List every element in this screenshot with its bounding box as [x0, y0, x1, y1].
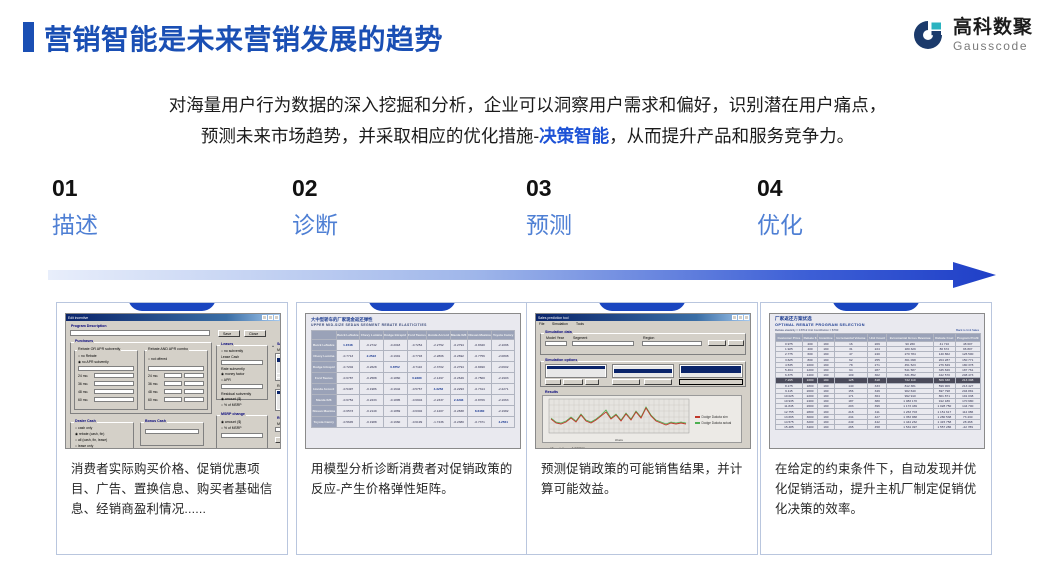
matrix-title-en: UPPER MID-SIZE SEDAN SEGMENT REBATE ELAS…: [311, 323, 427, 327]
term-36-label: 36 mo.: [78, 382, 88, 386]
step-labels: 01 描述 02 诊断 03 预测 04 优化: [0, 176, 1051, 254]
save-incentives-label: Save incentives: [276, 342, 281, 346]
sim-new-button[interactable]: [708, 340, 726, 346]
simulation-data-label: Simulation data: [544, 330, 573, 334]
radio-lease-only[interactable]: ○ lease only: [75, 444, 93, 448]
legend-actual: Dodge Dakota actual: [695, 421, 731, 425]
term-60-label: 60 mo.: [78, 398, 88, 402]
segment-select[interactable]: [572, 341, 634, 346]
radio-msrp-amount[interactable]: ◉ amount ($): [221, 420, 241, 424]
radio-msrp-pct[interactable]: ○ % of MSRP: [221, 426, 242, 430]
card-predict[interactable]: Sales prediction tool File Simulation To…: [526, 302, 758, 555]
step-03-number: 03: [526, 176, 746, 201]
elasticity-matrix-table: Buick LeSabreChevy LuminaDodge IntrepidF…: [311, 330, 515, 428]
radio-money-factor[interactable]: ◉ money factor: [221, 372, 245, 376]
residual-subvently-label: Residual subvently: [220, 392, 252, 396]
logo-name-en: Gausscode: [953, 40, 1033, 52]
title-accent-bar: [23, 22, 34, 52]
models-listbox[interactable]: [612, 364, 674, 378]
combo-term-36-rate[interactable]: [184, 381, 204, 386]
region-select[interactable]: [642, 341, 702, 346]
card-describe[interactable]: Edit incentive Program Description Save …: [56, 302, 288, 555]
optimal-rebate-table: Customer PriceRebate $IncentiveIncrement…: [775, 333, 981, 430]
radio-amount[interactable]: ◉ amount ($): [221, 397, 241, 401]
step-03-label: 预测: [526, 213, 746, 238]
card-diagnose-caption: 用模型分析诊断消费者对促销政策的反应-产生价格弹性矩阵。: [311, 459, 515, 499]
combo-term-48-input[interactable]: [164, 389, 182, 394]
rebate-or-apr-label: Rebate OR APR subvently: [77, 347, 121, 351]
radio-no-subvently[interactable]: ○ no subvently: [221, 349, 243, 353]
simulation-options-label: Simulation options: [544, 358, 578, 362]
combo-term-60-rate[interactable]: [184, 397, 204, 402]
logo-name-cn: 高科数聚: [953, 18, 1033, 37]
select-all-button[interactable]: [612, 379, 640, 385]
svg-text:Weeks: Weeks: [615, 438, 624, 442]
bonus-cash-input[interactable]: [145, 429, 199, 434]
slide-header: 营销智能是未来营销发展的趋势 高科数聚 Gausscode: [0, 0, 1051, 78]
screenshot-sales-prediction-tool: Sales prediction tool File Simulation To…: [535, 313, 751, 449]
screenshot-optimal-rebate-program: 厂家返还方案优选 OPTIMAL REBATE PROGRAM SELECTIO…: [769, 313, 985, 449]
combo-term-36-label: 36 mo.: [148, 382, 158, 386]
lead-paragraph: 对海量用户行为数据的深入挖掘和分析，企业可以洞察用户需求和偏好，识别潜在用户痛点…: [50, 90, 1005, 151]
combo-term-36-input[interactable]: [164, 381, 182, 386]
purchases-group-label: Purchases: [74, 339, 94, 343]
region-list-label: Region(s): [276, 384, 281, 388]
step-01-number: 01: [52, 176, 272, 201]
remove-button[interactable]: [563, 379, 583, 385]
optimal-subtitle: Rebate elasticity = 0.8712 Unit Contribu…: [775, 328, 838, 332]
back-to-unit-sales-link[interactable]: Back to Unit Sales: [956, 328, 979, 332]
model-list-label: Model(s): [276, 348, 281, 352]
model-year-select[interactable]: [545, 341, 567, 346]
step-02: 02 诊断: [292, 176, 512, 239]
term-48-input[interactable]: [94, 389, 134, 394]
bonus-cash-group: [140, 422, 204, 446]
segment-label: Segment: [572, 336, 588, 340]
radio-all-cash-fin-lease[interactable]: ○ all (cash, fin, lease): [75, 438, 107, 442]
card-diagnose[interactable]: 大中型轿车的厂家现金返还弹性 UPPER MID-SIZE SEDAN SEGM…: [296, 302, 528, 555]
gausscode-logo-icon: [911, 18, 945, 52]
sim-run-button[interactable]: [728, 340, 744, 346]
region-label: Region: [642, 336, 655, 340]
lead-highlight: 决策智能: [539, 126, 609, 146]
correlation-text: (Correlation = 0.98390): [550, 447, 585, 449]
leases-label: Leases: [220, 342, 234, 346]
combo-term-48-rate[interactable]: [184, 389, 204, 394]
radio-rebate-cash-fin[interactable]: ◉ rebate (cash, fin): [75, 432, 104, 436]
simulation-chart: Weeks Dodge Dakota sim Dodge Dakota actu…: [542, 395, 742, 443]
card-notch: [598, 302, 686, 311]
results-listbox[interactable]: [679, 364, 743, 378]
progression-arrow: [48, 262, 996, 288]
combo-term-60-label: 60 mo.: [148, 398, 158, 402]
menu-simulation[interactable]: Simulation: [552, 322, 568, 326]
term-36-input[interactable]: [94, 381, 134, 386]
screenshot-rebate-elasticities: 大中型轿车的厂家现金返还弹性 UPPER MID-SIZE SEDAN SEGM…: [305, 313, 521, 449]
combo-term-24-input[interactable]: [164, 373, 182, 378]
rate-subvently-label: Rate subvently: [220, 367, 246, 371]
combo-term-60-input[interactable]: [164, 397, 182, 402]
retrieve-incentives-label: Retrieve incentives: [276, 416, 281, 420]
radio-no-apr[interactable]: ◉ no APR subvently: [78, 360, 109, 364]
combo-term-48-label: 48 mo.: [148, 390, 158, 394]
card-predict-caption: 预测促销政策的可能销售结果，并计算可能效益。: [541, 459, 745, 499]
model-year-label: Model Year: [545, 336, 565, 340]
slide: 营销智能是未来营销发展的趋势 高科数聚 Gausscode 对海量用户行为数据的…: [0, 0, 1051, 586]
legend-sim: Dodge Dakota sim: [695, 415, 728, 419]
radio-pct-msrp[interactable]: ○ % of MSRP: [221, 403, 242, 407]
step-02-label: 诊断: [292, 213, 512, 238]
term-48-label: 48 mo.: [78, 390, 88, 394]
brand-logo: 高科数聚 Gausscode: [911, 18, 1033, 52]
lead-line-2-suffix: ，从而提升产品和服务竞争力。: [609, 126, 854, 146]
screenshot-edit-incentive-dialog: Edit incentive Program Description Save …: [65, 313, 281, 449]
step-01: 01 描述: [52, 176, 272, 239]
card-notch: [832, 302, 920, 311]
retrieve-model-label: Model: [276, 422, 281, 426]
optimal-title-en: OPTIMAL REBATE PROGRAM SELECTION: [775, 323, 865, 327]
lease-cash-input[interactable]: [221, 360, 263, 365]
step-02-number: 02: [292, 176, 512, 201]
radio-no-rebate[interactable]: ○ no Rebate: [78, 354, 97, 358]
spacer: [272, 345, 274, 347]
dealer-cash-label: Dealer Cash: [74, 419, 97, 423]
model-listbox[interactable]: [275, 353, 281, 381]
add-button[interactable]: [545, 379, 561, 385]
chart-svg: Weeks: [543, 396, 743, 444]
term-24-input[interactable]: [94, 373, 134, 378]
menu-tools[interactable]: Tools: [576, 322, 584, 326]
retrieve-clear-button[interactable]: [275, 437, 281, 443]
results-label: Results: [544, 390, 559, 394]
step-04-label: 优化: [757, 213, 977, 238]
window-buttons: [262, 315, 280, 320]
edit-button[interactable]: [585, 379, 599, 385]
card-notch: [368, 302, 456, 311]
retrieve-model-select[interactable]: [275, 427, 281, 432]
lead-line-2-prefix: 预测未来市场趋势，并采取相应的优化措施-: [201, 126, 539, 146]
step-03: 03 预测: [526, 176, 746, 239]
step-04: 04 优化: [757, 176, 977, 239]
card-describe-caption: 消费者实际购买价格、促销优惠项目、广告、置换信息、购买者基础信息、经销商盈利情况…: [71, 459, 275, 519]
msrp-change-input[interactable]: [221, 433, 263, 438]
msrp-change-label: MSRP change: [220, 412, 246, 416]
rate-subvently-input[interactable]: [221, 384, 263, 389]
program-description-input[interactable]: [70, 330, 210, 336]
card-optimize[interactable]: 厂家返还方案优选 OPTIMAL REBATE PROGRAM SELECTIO…: [760, 302, 992, 555]
dialog-title: Edit incentive: [68, 316, 88, 320]
optimal-title-cn: 厂家返还方案优选: [775, 316, 812, 322]
lead-line-2: 预测未来市场趋势，并采取相应的优化措施-决策智能，从而提升产品和服务竞争力。: [50, 121, 1005, 152]
step-01-label: 描述: [52, 213, 272, 238]
label-program-description: Program Description: [70, 324, 108, 328]
clear-all-button[interactable]: [644, 379, 672, 385]
options-listbox[interactable]: [545, 364, 607, 378]
region-listbox[interactable]: [275, 389, 281, 411]
term-24-label: 24 mo.: [78, 374, 88, 378]
combo-amount-input[interactable]: [148, 366, 204, 371]
combo-term-24-label: 24 mo.: [148, 374, 158, 378]
bonus-cash-label: Bonus Cash: [144, 419, 167, 423]
menu-file[interactable]: File: [539, 322, 544, 326]
radio-not-offered[interactable]: ○ not offered: [148, 357, 167, 361]
lease-cash-label: Lease Cash: [221, 355, 239, 359]
combo-term-24-rate[interactable]: [184, 373, 204, 378]
graph-button[interactable]: [679, 379, 743, 385]
card-notch: [128, 302, 216, 311]
window-buttons: [732, 315, 750, 320]
card-row: Edit incentive Program Description Save …: [0, 296, 1051, 561]
lead-line-1: 对海量用户行为数据的深入挖掘和分析，企业可以洞察用户需求和偏好，识别潜在用户痛点…: [50, 90, 1005, 121]
rebate-and-apr-label: Rebate AND APR combo: [147, 347, 189, 351]
rebate-amount-input[interactable]: [78, 366, 134, 371]
sim-window-title: Sales prediction tool: [538, 316, 569, 320]
close-button-label: Close: [248, 332, 259, 336]
card-optimize-caption: 在给定的约束条件下，自动发现并优化促销活动，提升主机厂制定促销优化决策的效率。: [775, 459, 979, 519]
page-title: 营销智能是未来营销发展的趋势: [44, 18, 443, 58]
step-04-number: 04: [757, 176, 977, 201]
radio-cash-only[interactable]: ○ cash only: [75, 426, 92, 430]
term-60-input[interactable]: [94, 397, 134, 402]
radio-apr[interactable]: ○ APR: [221, 378, 231, 382]
save-button-label: Save: [222, 332, 232, 336]
